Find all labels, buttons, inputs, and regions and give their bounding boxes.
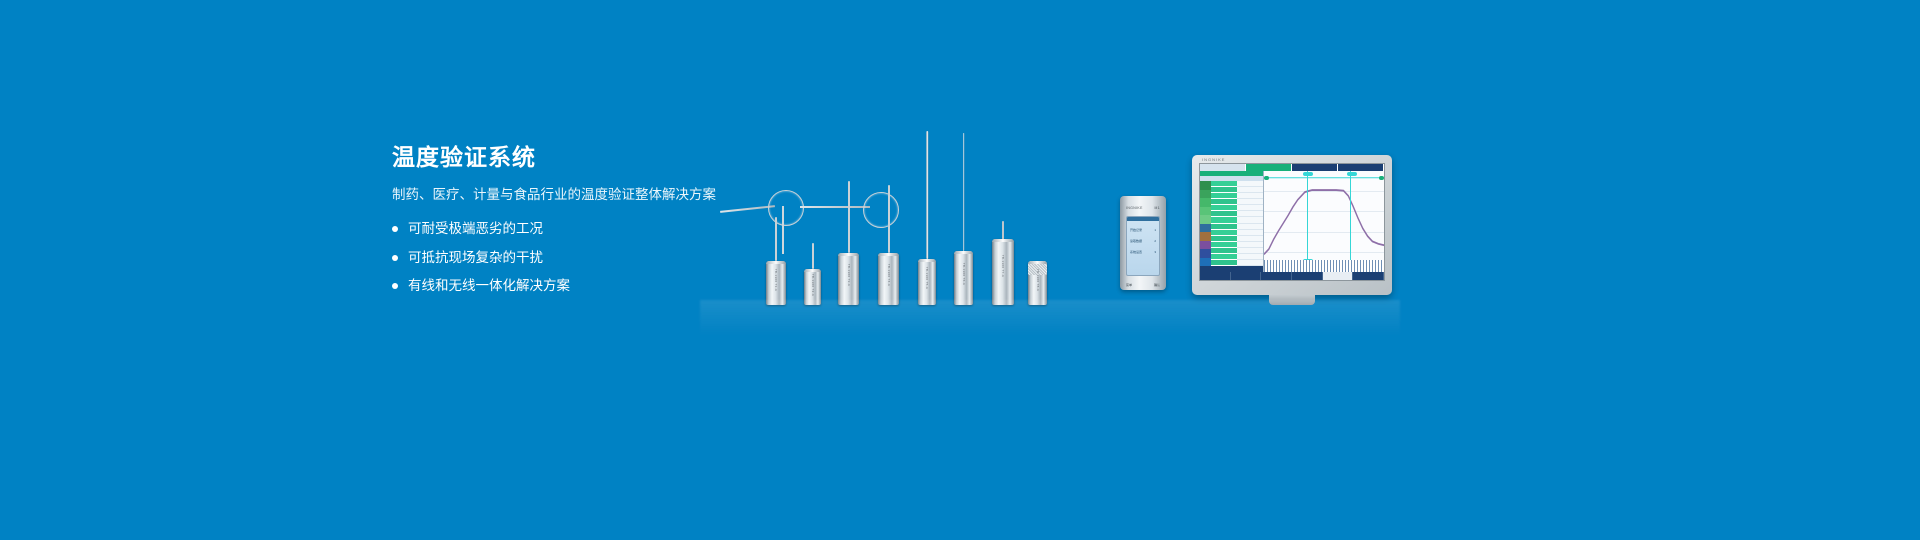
probe-stem [848, 181, 850, 253]
probe-tip [1002, 221, 1004, 239]
monitor-display: INGNIKE [1192, 155, 1392, 295]
probe-label: TB-1300 T2-A [811, 273, 815, 295]
probe-stem [775, 217, 777, 261]
lcd-menu-index: 3 [1154, 250, 1156, 254]
btn-start-acquire[interactable] [1200, 272, 1231, 280]
probe-label: TB-1300 T8-A [1036, 269, 1040, 291]
key-confirm[interactable]: 确认 [1154, 283, 1160, 287]
limit-flag-left [1264, 176, 1269, 180]
handheld-reader[interactable]: INGNIKE M1 开始记录 1 读取数据 2 系统设置 3 菜单 确认 [1120, 196, 1166, 290]
probe-unit: TB-1300 T1-A [766, 261, 786, 305]
curve-svg [1264, 171, 1384, 272]
key-menu[interactable]: 菜单 [1126, 283, 1132, 287]
table-channel-cells [1211, 181, 1237, 266]
btn-exit[interactable] [1353, 272, 1384, 280]
tab-data-acquisition[interactable] [1200, 164, 1246, 171]
lcd-menu-label: 开始记录 [1130, 228, 1142, 232]
probe-unit: TB-1300 T4-A [878, 253, 899, 305]
swatch [1200, 232, 1211, 241]
table-rows [1200, 181, 1263, 266]
bullet-dot-icon [392, 283, 398, 289]
model-label: M1 [1154, 206, 1160, 210]
lcd-menu-index: 2 [1154, 239, 1156, 243]
marker-pill-top[interactable] [1347, 172, 1357, 176]
channel-data-table[interactable] [1200, 171, 1264, 272]
marker-pill-top[interactable] [1303, 172, 1313, 176]
swatch [1200, 224, 1211, 233]
btn-spacer [1323, 272, 1354, 280]
bullet-text: 可抵抗现场复杂的干扰 [408, 251, 543, 265]
tab-system-settings[interactable] [1338, 164, 1384, 171]
probe-label: TB-1300 T7-A [1001, 255, 1005, 277]
software-button-bar[interactable] [1200, 272, 1384, 280]
swatch [1200, 258, 1211, 267]
probe-label: TB-1300 T4-A [887, 264, 891, 286]
probe-unit: TB-1300 T3-A [838, 253, 859, 305]
swatch [1200, 207, 1211, 216]
monitor-stand [1269, 295, 1315, 305]
x-axis-ticks [1264, 260, 1384, 272]
probe-unit: TB-1300 T8-A [1028, 261, 1047, 305]
lcd-menu-row: 开始记录 1 [1127, 228, 1159, 232]
probe-needle [963, 133, 965, 251]
software-toolbar[interactable] [1200, 164, 1384, 171]
limit-flag-right [1379, 176, 1384, 180]
hero-banner: 温度验证系统 制药、医疗、计量与食品行业的温度验证整体解决方案 可耐受极端恶劣的… [0, 0, 1920, 540]
probe-stem [812, 243, 814, 269]
tab-curve-analysis[interactable] [1246, 164, 1292, 171]
probe-needle [926, 131, 928, 259]
bullet-dot-icon [392, 255, 398, 261]
btn-stop-acquire[interactable] [1231, 272, 1262, 280]
probe-body: TB-1300 T1-A [766, 261, 786, 305]
table-value-cells [1237, 181, 1263, 266]
bullet-text: 有线和无线一体化解决方案 [408, 279, 570, 293]
swatch [1200, 190, 1211, 199]
probe-label: TB-1300 T6-A [962, 262, 966, 284]
btn-print[interactable] [1292, 272, 1323, 280]
lcd-title-bar [1127, 217, 1159, 221]
probe-unit: TB-1300 T6-A [954, 251, 973, 305]
tab-report-output[interactable] [1292, 164, 1338, 171]
probe-body: TB-1300 T2-A [804, 269, 821, 305]
handheld-lcd-screen: 开始记录 1 读取数据 2 系统设置 3 [1126, 216, 1160, 276]
probe-label: TB-1300 T5-A [925, 267, 929, 289]
monitor-brand-label: INGNIKE [1202, 157, 1225, 162]
lcd-menu-label: 系统设置 [1130, 250, 1142, 254]
software-body [1200, 171, 1384, 272]
swatch [1200, 198, 1211, 207]
swatch [1200, 215, 1211, 224]
brand-label: INGNIKE [1126, 206, 1143, 210]
probe-label: TB-1300 T1-A [774, 269, 778, 291]
handheld-keypad[interactable]: 菜单 确认 [1126, 283, 1160, 287]
probe-body: TB-1300 T4-A [878, 253, 899, 305]
probe-body: TB-1300 T8-A [1028, 261, 1047, 305]
probe-unit: TB-1300 T7-A [992, 239, 1014, 305]
probe-body: TB-1300 T5-A [918, 259, 936, 305]
lcd-menu-index: 1 [1154, 228, 1156, 232]
probe-stem [888, 185, 890, 253]
probe-label: TB-1300 T3-A [847, 264, 851, 286]
handheld-brand-row: INGNIKE M1 [1126, 206, 1160, 210]
swatch [1200, 181, 1211, 190]
bullet-dot-icon [392, 226, 398, 232]
swatch [1200, 249, 1211, 258]
cursor-marker-1[interactable] [1307, 171, 1308, 264]
probe-unit: TB-1300 T5-A [918, 259, 936, 305]
btn-export-report[interactable] [1261, 272, 1292, 280]
probe-body: TB-1300 T7-A [992, 239, 1014, 305]
swatch [1200, 241, 1211, 250]
bullet-text: 可耐受极端恶劣的工况 [408, 222, 543, 236]
software-window [1199, 163, 1385, 281]
lcd-menu-label: 读取数据 [1130, 239, 1142, 243]
probe-body: TB-1300 T6-A [954, 251, 973, 305]
lcd-menu-row: 系统设置 3 [1127, 250, 1159, 254]
cursor-marker-2[interactable] [1350, 171, 1351, 264]
channel-color-swatches [1200, 181, 1211, 266]
temperature-curve-chart [1264, 171, 1384, 272]
probe-unit: TB-1300 T2-A [804, 269, 821, 305]
probe-body: TB-1300 T3-A [838, 253, 859, 305]
lcd-menu-row: 读取数据 2 [1127, 239, 1159, 243]
